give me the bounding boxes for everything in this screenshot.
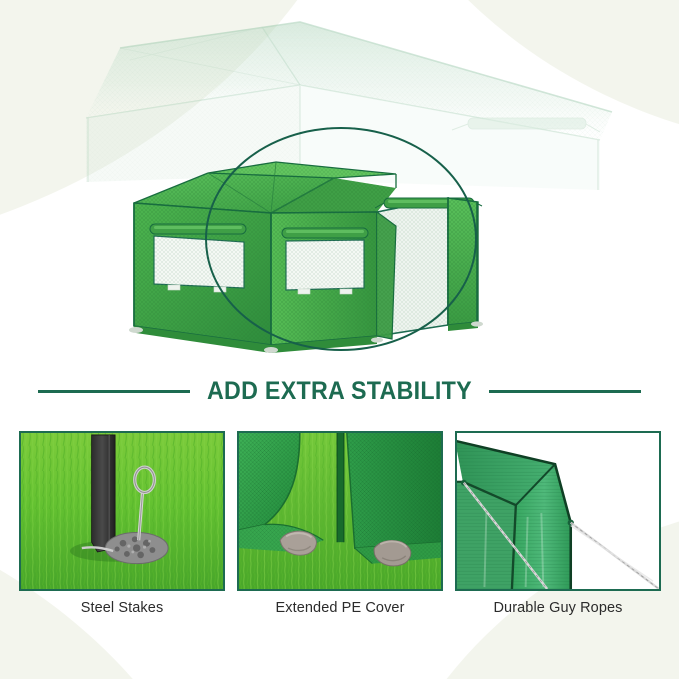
section-title: ADD EXTRA STABILITY [201,377,479,406]
feature-panel-steel-stakes [19,431,225,591]
section-title-row: ADD EXTRA STABILITY [0,374,679,408]
feature-panel-durable-guy-ropes [455,431,661,591]
caption-extended-pe-cover: Extended PE Cover [237,600,443,616]
feature-panel-extended-pe-cover [237,431,443,591]
title-rule-left [38,390,190,393]
hero-circle-outline [205,127,477,351]
caption-durable-guy-ropes: Durable Guy Ropes [455,600,661,616]
title-rule-right [489,390,641,393]
caption-steel-stakes: Steel Stakes [19,600,225,616]
feature-captions: Steel Stakes Extended PE Cover Durable G… [0,600,679,634]
product-feature-image: ADD EXTRA STABILITY [0,0,679,679]
feature-panels [0,431,679,593]
